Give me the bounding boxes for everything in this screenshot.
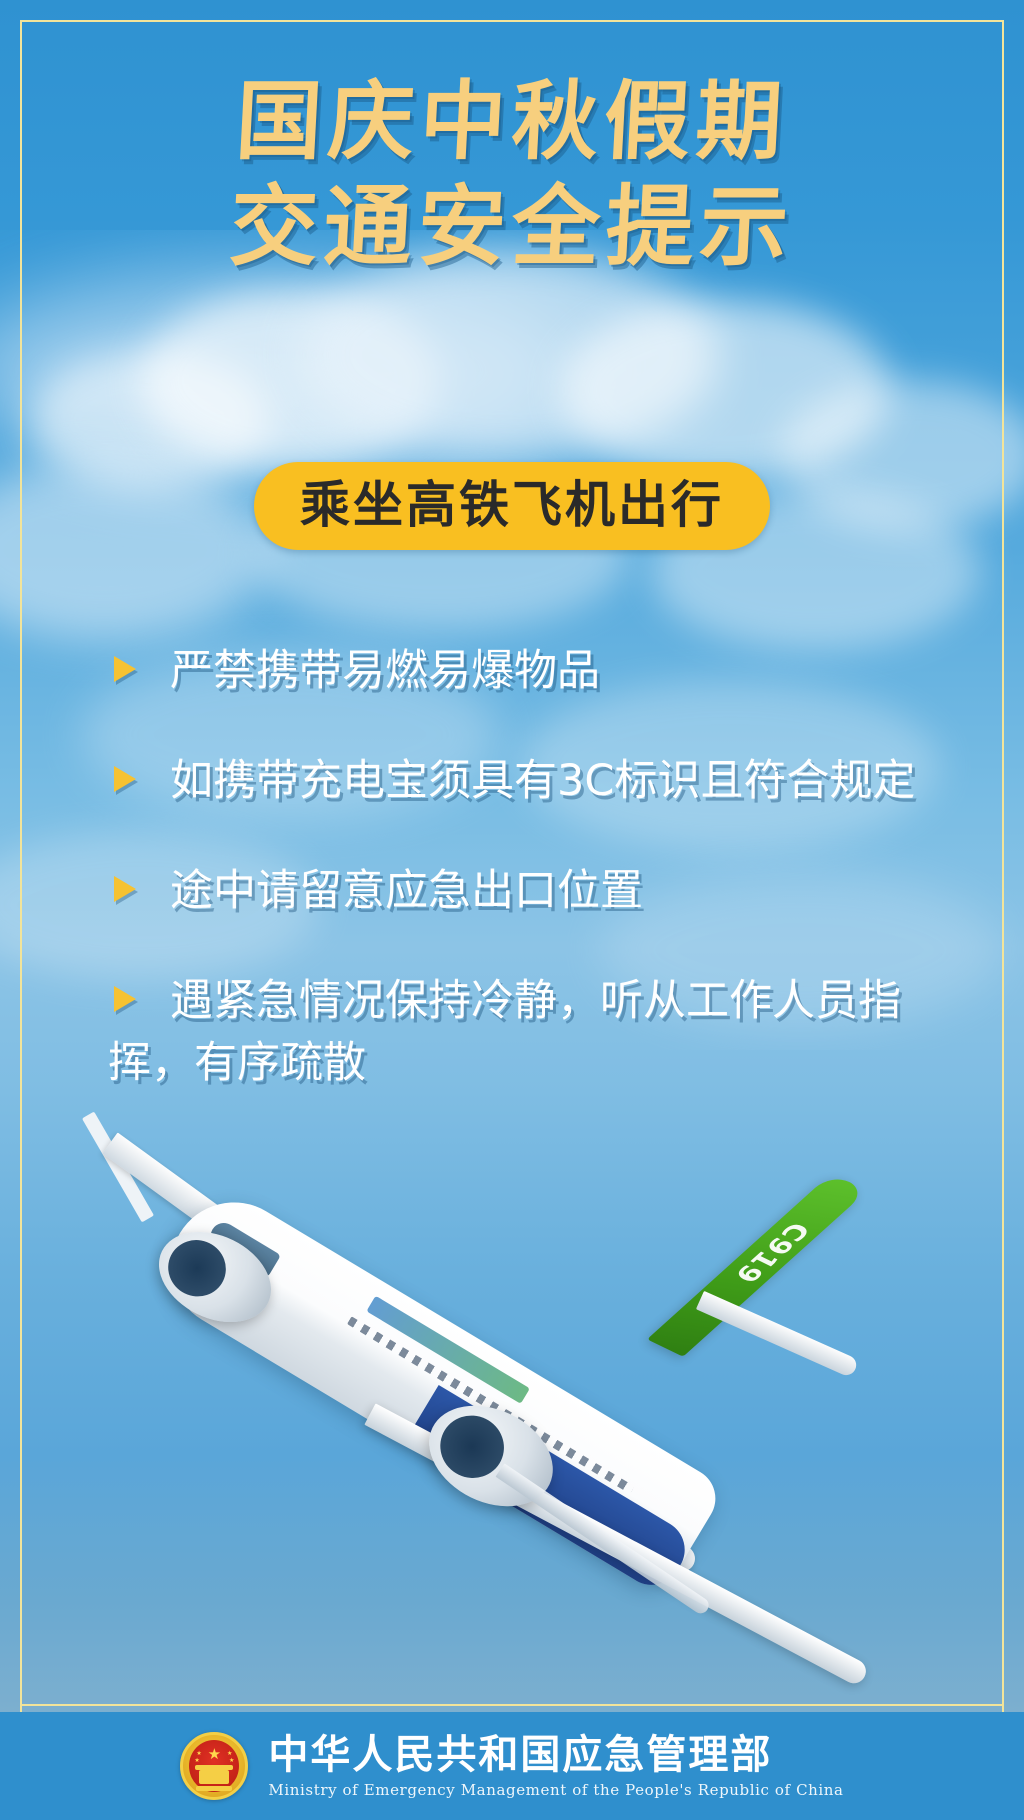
poster-title: 国庆中秋假期 交通安全提示 [0,70,1024,278]
list-item-text: 如携带充电宝须具有3C标识且符合规定 [108,750,948,812]
footer-org-text: 中华人民共和国应急管理部 Ministry of Emergency Manag… [268,1733,843,1799]
title-line-1: 国庆中秋假期 [0,70,1024,174]
emblem-tiananmen-shape [199,1770,229,1784]
national-emblem-icon: ★ ★ ★ ★ ★ [180,1732,248,1800]
section-badge-label: 乘坐高铁飞机出行 [300,476,724,534]
emblem-small-stars: ★ ★ ★ ★ [194,1749,234,1765]
poster-root: 国庆中秋假期 交通安全提示 乘坐高铁飞机出行 严禁携带易燃易爆物品 如携带充电宝… [0,0,1024,1820]
title-line-2: 交通安全提示 [0,174,1024,278]
list-item-text: 途中请留意应急出口位置 [108,860,948,922]
list-item: 遇紧急情况保持冷静，听从工作人员指挥，有序疏散 [108,970,948,1094]
triangle-bullet-icon [114,656,136,682]
list-item: 途中请留意应急出口位置 [108,860,948,922]
triangle-bullet-icon [114,986,136,1012]
footer-org-cn: 中华人民共和国应急管理部 [268,1733,843,1777]
safety-tips-list: 严禁携带易燃易爆物品 如携带充电宝须具有3C标识且符合规定 途中请留意应急出口位… [108,640,948,1142]
footer-divider [20,1704,1004,1706]
emblem-base-shape [196,1786,232,1791]
tail-model-marking: C919 [747,1218,816,1269]
engine-intake-left [159,1230,236,1306]
horizontal-stabilizer [696,1291,859,1378]
triangle-bullet-icon [114,766,136,792]
airplane-illustration: C919 [70,1090,950,1610]
list-item-text: 严禁携带易燃易爆物品 [108,640,948,702]
list-item-text: 遇紧急情况保持冷静，听从工作人员指挥，有序疏散 [108,970,948,1094]
list-item: 严禁携带易燃易爆物品 [108,640,948,702]
list-item: 如携带充电宝须具有3C标识且符合规定 [108,750,948,812]
section-badge-wrap: 乘坐高铁飞机出行 [0,462,1024,550]
footer-org-en: Ministry of Emergency Management of the … [268,1781,843,1799]
triangle-bullet-icon [114,876,136,902]
section-badge: 乘坐高铁飞机出行 [254,462,770,550]
footer-bar: ★ ★ ★ ★ ★ 中华人民共和国应急管理部 Ministry of Emerg… [0,1712,1024,1820]
